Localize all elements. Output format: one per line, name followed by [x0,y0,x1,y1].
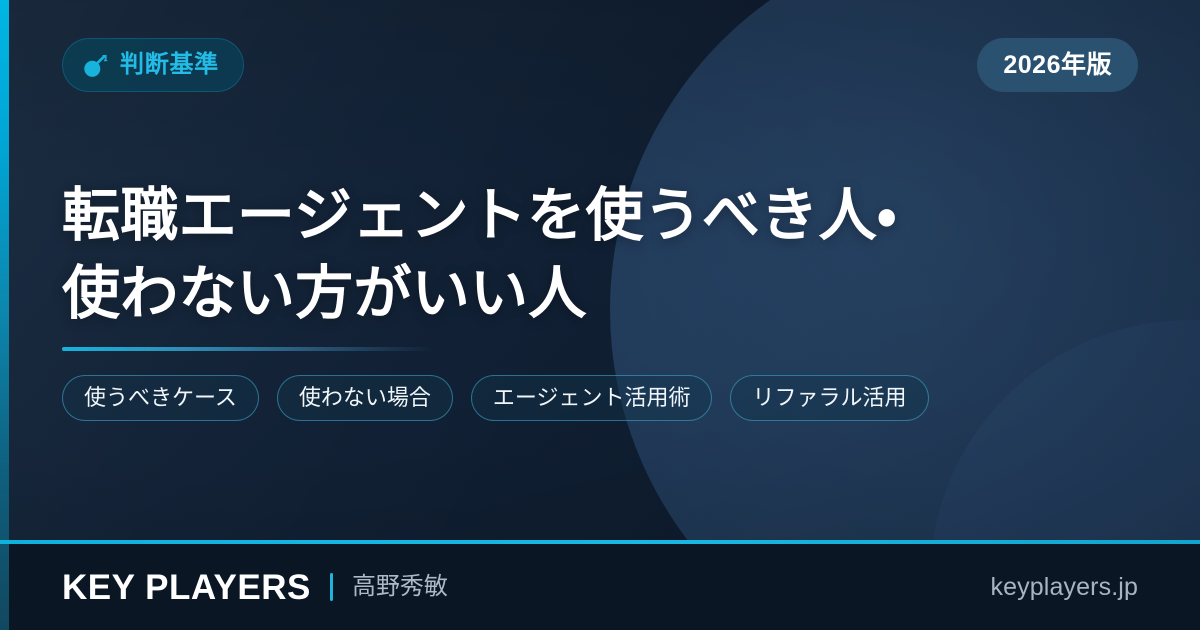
dart-target-icon [82,52,109,79]
headline-line-2: 使わない方がいい人 [62,255,1092,333]
site-url: keyplayers.jp [990,575,1138,600]
headline-divider [62,347,434,351]
year-badge: 2026年版 [977,38,1138,92]
footer: KEY PLAYERS 高野秀敏 keyplayers.jp [0,544,1200,630]
category-badge-label: 判断基準 [120,53,219,77]
headline-line-1: 転職エージェントを使うべき人・ [62,177,1092,255]
footer-brand-group: KEY PLAYERS 高野秀敏 [62,570,448,605]
brand-separator [330,573,333,601]
main-content: 判断基準 2026年版 転職エージェントを使うべき人・ 使わない方がいい人 使う… [0,0,1200,541]
footer-divider-rule [0,540,1200,544]
tag-pill: 使わない場合 [277,375,453,421]
brand-logo-text: KEY PLAYERS [62,570,311,605]
ogp-card: 判断基準 2026年版 転職エージェントを使うべき人・ 使わない方がいい人 使う… [0,0,1200,630]
page-title: 転職エージェントを使うべき人・ 使わない方がいい人 [62,177,1092,332]
tag-pill: 使うべきケース [62,375,259,421]
tag-list: 使うべきケース 使わない場合 エージェント活用術 リファラル活用 [62,375,929,421]
badge-row: 判断基準 2026年版 [62,38,1138,92]
author-name: 高野秀敏 [352,575,448,599]
tag-pill: エージェント活用術 [471,375,713,421]
left-accent-bar [0,0,9,630]
category-badge: 判断基準 [62,38,244,92]
tag-pill: リファラル活用 [730,375,928,421]
